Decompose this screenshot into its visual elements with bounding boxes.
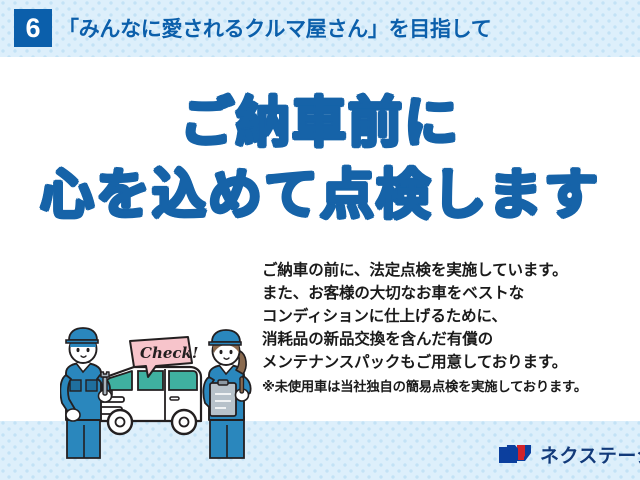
clipboard-icon	[210, 380, 236, 416]
mechanic-left-figure	[60, 328, 111, 458]
body-line: メンテナンスパックもご用意しております。	[262, 351, 632, 374]
body-line: コンディションに仕上げるために、	[262, 305, 632, 328]
headline-line-1: ご納車前に	[0, 87, 640, 159]
headline-block: ご納車前に 心を込めて点検します	[0, 87, 640, 231]
body-text-block: ご納車の前に、法定点検を実施しています。 また、お客様の大切なお車をベストな コ…	[262, 259, 632, 396]
promo-page: 6 「みんなに愛されるクルマ屋さん」を目指して ご納車前に 心を込めて点検します…	[0, 0, 640, 480]
check-bubble-label: Check!	[140, 344, 199, 362]
nextage-n-mark-icon	[497, 443, 533, 465]
brand-name-label: ネクステージ	[540, 441, 640, 468]
body-line: 消耗品の新品交換を含んだ有償の	[262, 328, 632, 351]
pen-icon	[240, 377, 244, 393]
mechanics-illustration: Check!	[60, 325, 265, 460]
illustration-svg: Check!	[60, 325, 265, 460]
content-panel: ご納車前に 心を込めて点検します ご納車の前に、法定点検を実施しています。 また…	[0, 57, 640, 421]
mechanic-right-figure	[203, 330, 250, 458]
page-header: 6 「みんなに愛されるクルマ屋さん」を目指して	[0, 0, 640, 57]
section-number-badge: 6	[14, 9, 52, 47]
headline-line-2: 心を込めて点検します	[0, 159, 640, 231]
body-note: ※未使用車は当社独自の簡易点検を実施しております。	[262, 377, 632, 396]
body-line: ご納車の前に、法定点検を実施しています。	[262, 259, 632, 282]
page-title: 「みんなに愛されるクルマ屋さん」を目指して	[58, 13, 491, 43]
body-line: また、お客様の大切なお車をベストな	[262, 282, 632, 305]
brand-logo: ネクステージ	[497, 437, 640, 471]
